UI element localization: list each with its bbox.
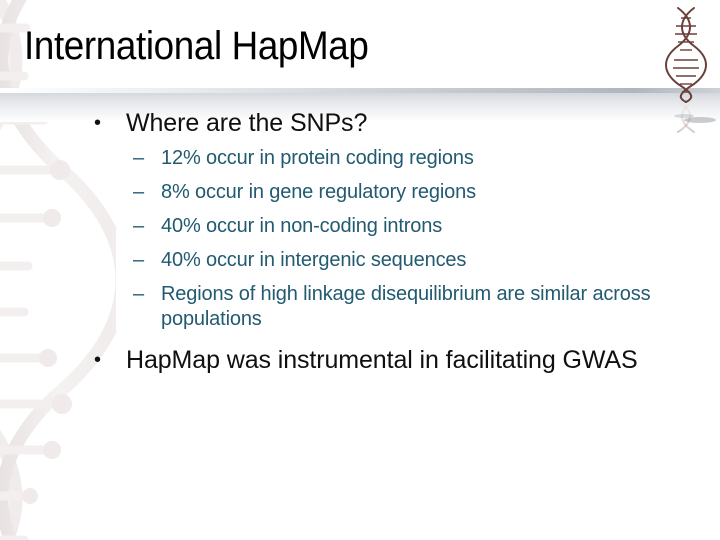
sub-bullet-item: – 8% occur in gene regulatory regions (131, 180, 700, 205)
dash-marker-icon: – (131, 146, 161, 171)
title-divider-sheen (0, 88, 720, 93)
dash-marker-icon: – (131, 214, 161, 239)
presentation-slide: International HapMap (0, 0, 720, 540)
sub-bullet-text: 40% occur in intergenic sequences (161, 248, 700, 273)
sub-bullet-text: 12% occur in protein coding regions (161, 146, 700, 171)
sub-bullet-text: 8% occur in gene regulatory regions (161, 180, 700, 205)
sub-bullet-item: – 12% occur in protein coding regions (131, 146, 700, 171)
bullet-level1: • HapMap was instrumental in facilitatin… (92, 345, 700, 375)
dash-marker-icon: – (131, 282, 161, 307)
bullet-dot-icon: • (92, 345, 126, 375)
bullet-dot-icon: • (92, 108, 126, 138)
sub-bullet-item: – 40% occur in intergenic sequences (131, 248, 700, 273)
slide-title: International HapMap (24, 22, 594, 70)
dash-marker-icon: – (131, 248, 161, 273)
sub-bullet-text: Regions of high linkage disequilibrium a… (161, 282, 700, 332)
sub-bullet-item: – 40% occur in non-coding introns (131, 214, 700, 239)
bullet-level1: • Where are the SNPs? (92, 108, 700, 138)
dash-marker-icon: – (131, 180, 161, 205)
spacer (92, 332, 700, 345)
bullet-level1-text: Where are the SNPs? (126, 108, 700, 138)
bullet-level1-text: HapMap was instrumental in facilitating … (126, 345, 700, 375)
sub-bullet-text: 40% occur in non-coding introns (161, 214, 700, 239)
slide-body: • Where are the SNPs? – 12% occur in pro… (92, 108, 700, 381)
sub-bullet-list: – 12% occur in protein coding regions – … (131, 146, 700, 332)
sub-bullet-item: – Regions of high linkage disequilibrium… (131, 282, 700, 332)
